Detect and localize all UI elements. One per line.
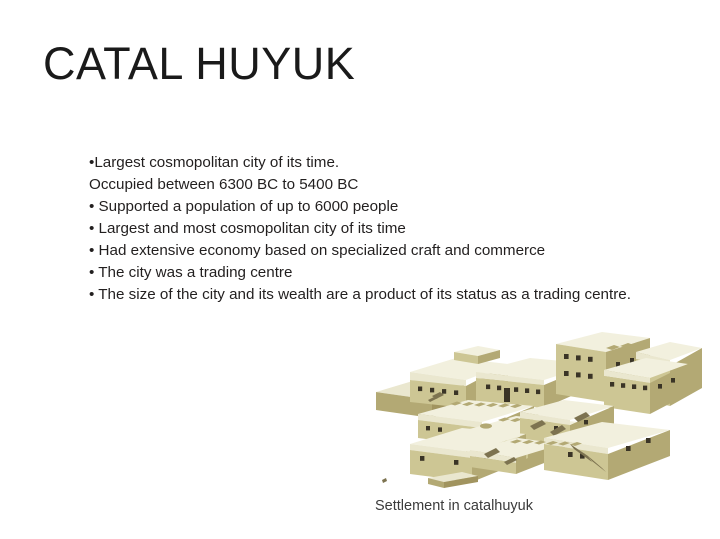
list-item: • Supported a population of up to 6000 p… [89, 196, 649, 218]
figure-caption: Settlement in catalhuyuk [375, 498, 533, 514]
list-item: • Largest and most cosmopolitan city of … [89, 218, 649, 240]
list-item: • The city was a trading centre [89, 262, 649, 284]
page-title: CATAL HUYUK [43, 40, 355, 87]
list-item: •Largest cosmopolitan city of its time. [89, 152, 649, 174]
list-item: • The size of the city and its wealth ar… [89, 284, 649, 306]
list-item: • Had extensive economy based on special… [89, 240, 649, 262]
settlement-model-svg: .rf { fill:#eae7cf; } .rp { fill:#f2f0de… [358, 322, 702, 488]
bullet-list: •Largest cosmopolitan city of its time. … [89, 152, 649, 306]
list-item: Occupied between 6300 BC to 5400 BC [89, 174, 649, 196]
presentation-slide: CATAL HUYUK •Largest cosmopolitan city o… [0, 0, 720, 539]
settlement-illustration: .rf { fill:#eae7cf; } .rp { fill:#f2f0de… [358, 322, 702, 488]
